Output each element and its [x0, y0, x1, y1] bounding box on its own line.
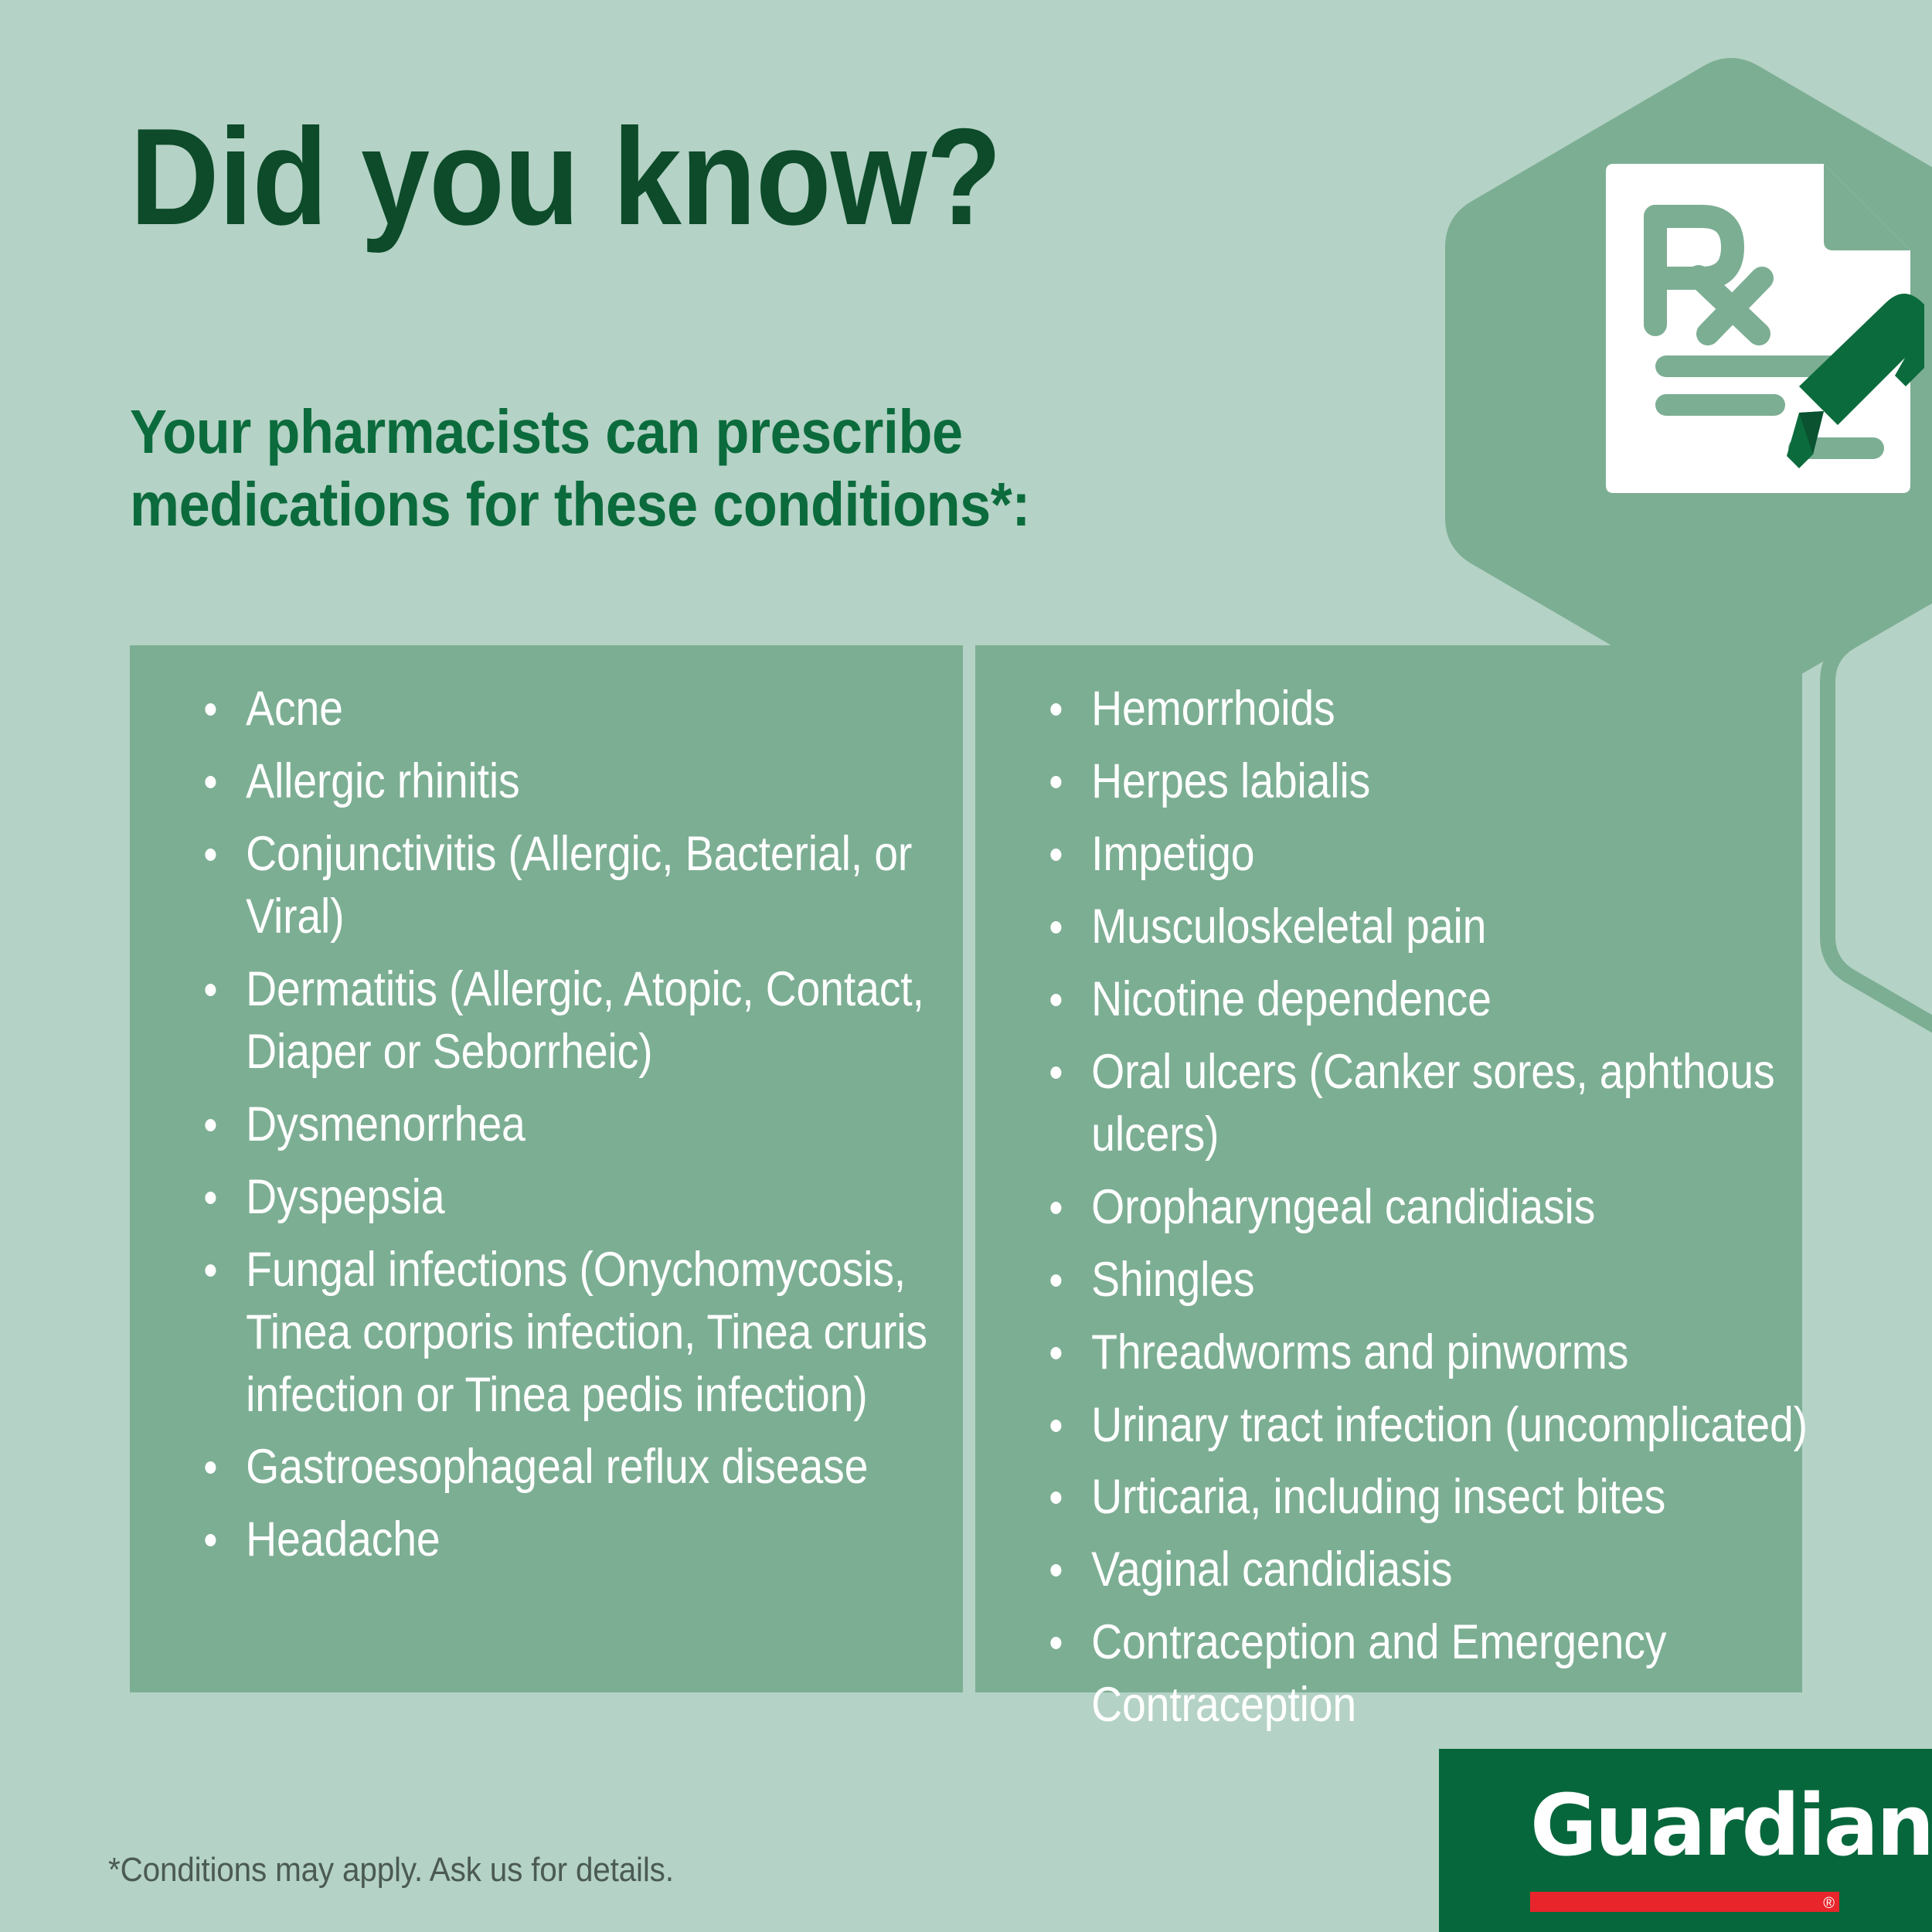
bullet-icon — [1050, 1492, 1061, 1504]
bullet-icon — [205, 1461, 216, 1474]
bullet-icon — [1050, 1066, 1061, 1079]
list-item-label: Contraception and Emergency Contraceptio… — [1091, 1615, 1666, 1732]
list-item-label: Dyspepsia — [246, 1170, 444, 1224]
list-item: Threadworms and pinworms — [1036, 1321, 1812, 1384]
list-item-label: Herpes labialis — [1091, 754, 1370, 808]
list-item-label: Gastroesophageal reflux disease — [246, 1440, 868, 1494]
footnote-text: *Conditions may apply. Ask us for detail… — [108, 1851, 674, 1889]
list-item: Urinary tract infection (uncomplicated) — [1036, 1394, 1812, 1457]
list-item-label: Oropharyngeal candidiasis — [1091, 1180, 1595, 1234]
bullet-icon — [205, 1119, 216, 1131]
bullet-icon — [1050, 1202, 1061, 1214]
list-item-label: Impetigo — [1091, 827, 1254, 881]
conditions-list-left: AcneAllergic rhinitisConjunctivitis (All… — [190, 678, 917, 1581]
hexagon-outline-right — [1828, 508, 1932, 1111]
bullet-icon — [1050, 1347, 1061, 1359]
list-item: Urticaria, including insect bites — [1036, 1466, 1812, 1529]
guardian-logo: Guardian ® — [1439, 1749, 1932, 1932]
doc-line-2 — [1655, 394, 1785, 416]
list-item: Nicotine dependence — [1036, 968, 1812, 1031]
subtitle-line-2: medications for these conditions*: — [130, 468, 1034, 541]
bullet-icon — [205, 776, 216, 788]
list-item: Dysmenorrhea — [190, 1094, 967, 1156]
list-item: Allergic rhinitis — [190, 750, 967, 813]
list-item: Acne — [190, 678, 967, 740]
list-item: Dermatitis (Allergic, Atopic, Contact, D… — [190, 958, 967, 1083]
conditions-panel-left: AcneAllergic rhinitisConjunctivitis (All… — [130, 645, 963, 1692]
list-item-label: Hemorrhoids — [1091, 682, 1335, 736]
list-item-label: Threadworms and pinworms — [1091, 1325, 1628, 1379]
list-item: Fungal infections (Onychomycosis, Tinea … — [190, 1239, 967, 1427]
list-item-label: Allergic rhinitis — [246, 754, 519, 808]
list-item-label: Urinary tract infection (uncomplicated) — [1091, 1398, 1808, 1452]
rx-prescription-with-pen-icon — [1592, 162, 1924, 495]
bullet-icon — [205, 984, 216, 996]
page-subtitle: Your pharmacists can prescribe medicatio… — [130, 396, 1034, 540]
list-item: Headache — [190, 1509, 967, 1571]
bullet-icon — [1050, 1637, 1061, 1649]
bullet-icon — [1050, 849, 1061, 861]
list-item-label: Fungal infections (Onychomycosis, Tinea … — [246, 1243, 927, 1422]
guardian-red-bar: ® — [1530, 1892, 1839, 1912]
bullet-icon — [1050, 994, 1061, 1006]
bullet-icon — [1050, 1420, 1061, 1432]
bullet-icon — [1050, 921, 1061, 934]
registered-trademark-icon: ® — [1823, 1893, 1835, 1913]
list-item: Oropharyngeal candidiasis — [1036, 1176, 1812, 1239]
infographic-poster: Did you know? Your pharmacists can presc… — [0, 0, 1932, 1932]
list-item: Shingles — [1036, 1249, 1812, 1311]
bullet-icon — [1050, 776, 1061, 788]
bullet-icon — [205, 849, 216, 861]
bullet-icon — [205, 1192, 216, 1204]
list-item: Dyspepsia — [190, 1166, 967, 1229]
list-item: Impetigo — [1036, 823, 1812, 886]
bullet-icon — [205, 1264, 216, 1277]
conditions-list-right: HemorrhoidsHerpes labialisImpetigoMuscul… — [1036, 678, 1762, 1747]
page-title: Did you know? — [130, 108, 1001, 246]
list-item-label: Acne — [246, 682, 343, 736]
bullet-icon — [1050, 703, 1061, 716]
list-item-label: Dermatitis (Allergic, Atopic, Contact, D… — [246, 962, 924, 1079]
list-item: Contraception and Emergency Contraceptio… — [1036, 1611, 1812, 1736]
list-item-label: Vaginal candidiasis — [1091, 1543, 1452, 1597]
list-item: Musculoskeletal pain — [1036, 896, 1812, 958]
bullet-icon — [1050, 1564, 1061, 1577]
list-item-label: Headache — [246, 1512, 440, 1566]
bullet-icon — [1050, 1274, 1061, 1287]
conditions-panel-right: HemorrhoidsHerpes labialisImpetigoMuscul… — [975, 645, 1802, 1692]
list-item: Gastroesophageal reflux disease — [190, 1436, 967, 1498]
list-item: Conjunctivitis (Allergic, Bacterial, or … — [190, 823, 967, 948]
list-item: Oral ulcers (Canker sores, aphthous ulce… — [1036, 1041, 1812, 1166]
list-item: Hemorrhoids — [1036, 678, 1812, 740]
subtitle-line-1: Your pharmacists can prescribe — [130, 396, 1034, 468]
list-item-label: Conjunctivitis (Allergic, Bacterial, or … — [246, 827, 912, 944]
list-item-label: Oral ulcers (Canker sores, aphthous ulce… — [1091, 1045, 1774, 1162]
list-item-label: Shingles — [1091, 1253, 1254, 1307]
list-item-label: Musculoskeletal pain — [1091, 900, 1486, 954]
bullet-icon — [205, 1534, 216, 1546]
list-item-label: Urticaria, including insect bites — [1091, 1470, 1665, 1524]
list-item-label: Nicotine dependence — [1091, 972, 1492, 1026]
folded-corner — [1824, 164, 1910, 250]
list-item: Vaginal candidiasis — [1036, 1539, 1812, 1601]
bullet-icon — [205, 703, 216, 716]
list-item: Herpes labialis — [1036, 750, 1812, 813]
guardian-wordmark: Guardian — [1530, 1783, 1932, 1868]
list-item-label: Dysmenorrhea — [246, 1097, 525, 1151]
